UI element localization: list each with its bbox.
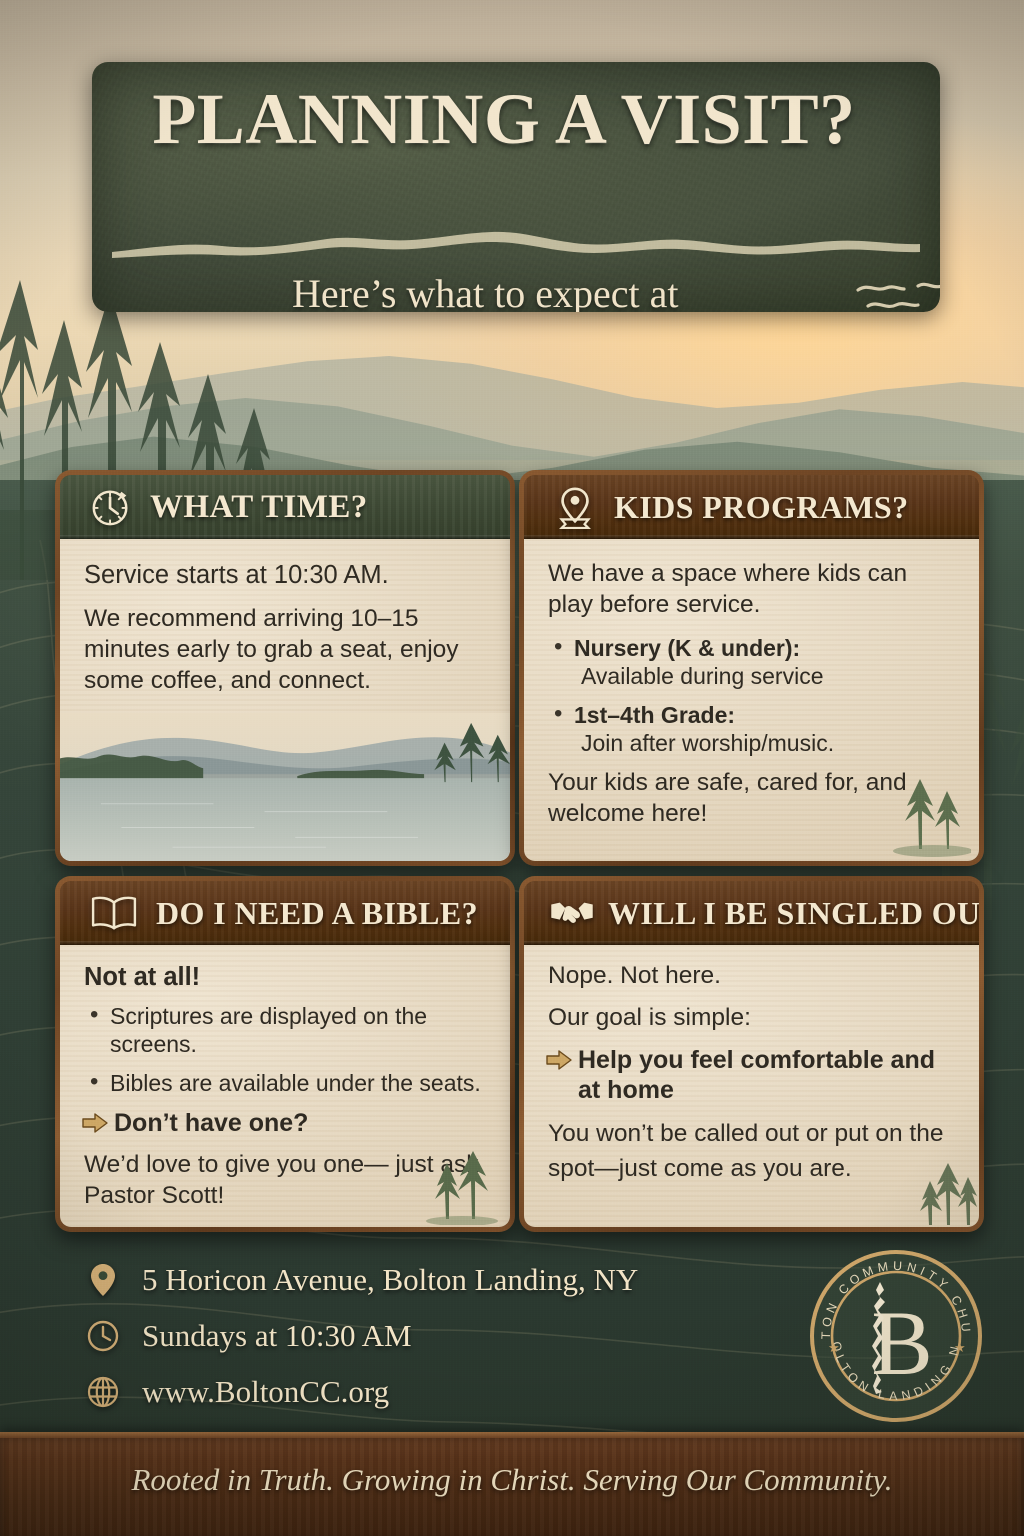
card2-intro: We have a space where kids can play befo… [548, 559, 957, 621]
card-body-kids-programs: We have a space where kids can play befo… [524, 539, 979, 861]
card3-heading: Not at all! [84, 961, 488, 993]
contact-row-address: 5 Horicon Avenue, Bolton Landing, NY [86, 1262, 746, 1298]
card-header-what-time: WHAT TIME? [60, 475, 510, 539]
card-body-will-i-be-singled-out: Nope. Not here. Our goal is simple: Help… [524, 945, 979, 1227]
contact-address-text: 5 Horicon Avenue, Bolton Landing, NY [142, 1262, 638, 1298]
clock-icon [88, 484, 134, 530]
card4-line-2: Our goal is simple: [548, 1003, 957, 1034]
card-do-i-need-a-bible[interactable]: DO I NEED A BIBLE? Not at all! Scripture… [55, 876, 515, 1232]
card-title-what-time: WHAT TIME? [150, 489, 368, 526]
subtitle-line-1: Here’s what to expect at [292, 271, 679, 312]
card1-line-2: We recommend arriving 10–15 minutes earl… [84, 604, 488, 697]
card-will-i-be-singled-out[interactable]: WILL I BE SINGLED OUT? Nope. Not here. O… [519, 876, 984, 1232]
list-item: Scriptures are displayed on the screens. [110, 1002, 488, 1058]
contact-website-text: www.BoltonCC.org [142, 1374, 389, 1410]
seal-monogram: B [871, 1292, 932, 1394]
footer-tagline: Rooted in Truth. Growing in Christ. Serv… [0, 1462, 1024, 1498]
card-title-will-i-be-singled-out: WILL I BE SINGLED OUT? [608, 895, 979, 932]
contact-info: 5 Horicon Avenue, Bolton Landing, NY Sun… [86, 1262, 746, 1430]
contact-row-time: Sundays at 10:30 AM [86, 1318, 746, 1354]
card3-bullet-list: Scriptures are displayed on the screens.… [84, 1002, 488, 1097]
card1-line-1: Service starts at 10:30 AM. [84, 559, 488, 591]
card2-bullet2-sub: Join after worship/music. [581, 729, 957, 757]
list-item: Nursery (K & under): Available during se… [574, 634, 957, 690]
poster-root: PLANNING A VISIT? Here’s what to expect … [0, 0, 1024, 1536]
card2-bullet1-title: Nursery (K & under): [574, 635, 800, 661]
card2-outro: Your kids are safe, cared for, and welco… [548, 768, 957, 830]
card-header-do-i-need-a-bible: DO I NEED A BIBLE? [60, 881, 510, 945]
card3-arrow-callout: Don’t have one? [84, 1108, 488, 1138]
star-left-icon: ★ [828, 1340, 840, 1355]
card4-arrow-callout: Help you feel comfortable and at home [548, 1045, 957, 1105]
open-book-icon [88, 890, 140, 936]
list-item: Bibles are available under the seats. [110, 1069, 488, 1097]
globe-icon [86, 1375, 120, 1409]
card-what-time[interactable]: WHAT TIME? Service starts at 10:30 AM. W… [55, 470, 515, 866]
card2-bullet1-sub: Available during service [581, 662, 957, 690]
card2-bullet-list: Nursery (K & under): Available during se… [548, 634, 957, 757]
header-banner: PLANNING A VISIT? Here’s what to expect … [92, 62, 940, 312]
card4-outro: You won’t be called out or put on the sp… [548, 1117, 957, 1187]
map-pin-icon [86, 1263, 120, 1297]
card2-bullet2-title: 1st–4th Grade: [574, 702, 735, 728]
map-pin-icon [552, 484, 598, 530]
card-header-will-i-be-singled-out: WILL I BE SINGLED OUT? [524, 881, 979, 945]
card-body-what-time: Service starts at 10:30 AM. We recommend… [60, 539, 510, 861]
right-arrow-icon [82, 1112, 108, 1134]
card3-arrow-text: Don’t have one? [114, 1108, 308, 1138]
card-body-do-i-need-a-bible: Not at all! Scriptures are displayed on … [60, 945, 510, 1227]
right-arrow-icon [546, 1049, 572, 1071]
page-subtitle: Here’s what to expect at Bolton Communit… [292, 270, 912, 312]
lake-george-photo [60, 713, 510, 861]
card4-line-1: Nope. Not here. [548, 961, 957, 992]
card-header-kids-programs: KIDS PROGRAMS? [524, 475, 979, 539]
footer-bar: Rooted in Truth. Growing in Christ. Serv… [0, 1432, 1024, 1536]
clock-icon [86, 1319, 120, 1353]
handshake-icon [548, 890, 596, 936]
page-title: PLANNING A VISIT? [124, 78, 884, 161]
footer-top-edge [0, 1432, 1024, 1438]
star-right-icon: ★ [954, 1340, 966, 1355]
card4-arrow-text: Help you feel comfortable and at home [578, 1045, 957, 1105]
card-title-kids-programs: KIDS PROGRAMS? [614, 489, 909, 526]
contact-time-text: Sundays at 10:30 AM [142, 1318, 412, 1354]
card-kids-programs[interactable]: KIDS PROGRAMS? We have a space where kid… [519, 470, 984, 866]
card-title-do-i-need-a-bible: DO I NEED A BIBLE? [156, 895, 478, 932]
card3-outro: We’d love to give you one— just ask Past… [84, 1150, 488, 1212]
list-item: 1st–4th Grade: Join after worship/music. [574, 701, 957, 757]
church-seal-logo: BOLTON COMMUNITY CHURCH BOLTON LANDING N… [806, 1246, 986, 1426]
mountain-ridge-icon [112, 230, 920, 260]
contact-row-website[interactable]: www.BoltonCC.org [86, 1374, 746, 1410]
